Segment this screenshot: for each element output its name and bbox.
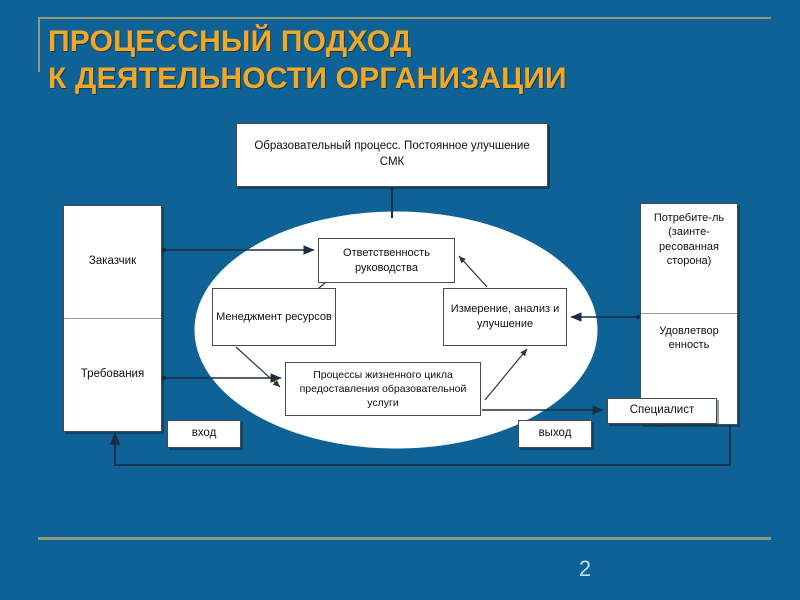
customer-cell: Заказчик: [64, 206, 161, 319]
top-decorative-rule: [38, 17, 771, 19]
flow-in-label-box: вход: [167, 420, 241, 448]
resource-management-box[interactable]: Менеджмент ресурсов: [212, 288, 336, 346]
management-responsibility-label: Ответственность руководства: [319, 246, 454, 276]
slide-title-line-1: ПРОЦЕССНЫЙ ПОДХОД: [48, 24, 758, 61]
top-process-box[interactable]: Образовательный процесс. Постоянное улуч…: [236, 123, 548, 187]
consumer-output-box[interactable]: Потребите-ль (заинте-ресованная сторона)…: [640, 203, 738, 425]
flow-out-label: выход: [539, 426, 572, 442]
top-left-decorative-rule: [38, 17, 40, 72]
specialist-box[interactable]: Специалист: [607, 398, 717, 424]
bottom-decorative-rule: [38, 537, 771, 540]
management-responsibility-box[interactable]: Ответственность руководства: [318, 238, 455, 283]
slide-title: ПРОЦЕССНЫЙ ПОДХОД К ДЕЯТЕЛЬНОСТИ ОРГАНИЗ…: [48, 24, 758, 97]
top-process-label: Образовательный процесс. Постоянное улуч…: [247, 139, 537, 170]
customer-label: Заказчик: [89, 254, 136, 270]
page-number: 2: [565, 556, 605, 582]
slide: ПРОЦЕССНЫЙ ПОДХОД К ДЕЯТЕЛЬНОСТИ ОРГАНИЗ…: [0, 0, 800, 600]
satisfaction-label: Удовлетвор енность: [646, 324, 732, 353]
process-diagram: Образовательный процесс. Постоянное улуч…: [0, 110, 800, 480]
specialist-label: Специалист: [630, 403, 695, 419]
flow-in-label: вход: [192, 426, 217, 442]
flow-out-label-box: выход: [518, 420, 592, 448]
requirements-label: Требования: [81, 367, 144, 383]
requirements-cell: Требования: [64, 319, 161, 432]
slide-title-line-2: К ДЕЯТЕЛЬНОСТИ ОРГАНИЗАЦИИ: [48, 61, 758, 98]
measurement-analysis-box[interactable]: Измерение, анализ и улучшение: [443, 288, 567, 346]
customer-input-box[interactable]: Заказчик Требования: [63, 205, 162, 432]
consumer-label: Потребите-ль (заинте-ресованная сторона): [646, 211, 732, 268]
lifecycle-processes-box[interactable]: Процессы жизненного цикла предоставления…: [285, 362, 481, 416]
measurement-analysis-label: Измерение, анализ и улучшение: [444, 302, 566, 332]
resource-management-label: Менеджмент ресурсов: [216, 310, 332, 325]
consumer-cell: Потребите-ль (заинте-ресованная сторона): [641, 204, 737, 314]
lifecycle-processes-label: Процессы жизненного цикла предоставления…: [286, 368, 480, 411]
